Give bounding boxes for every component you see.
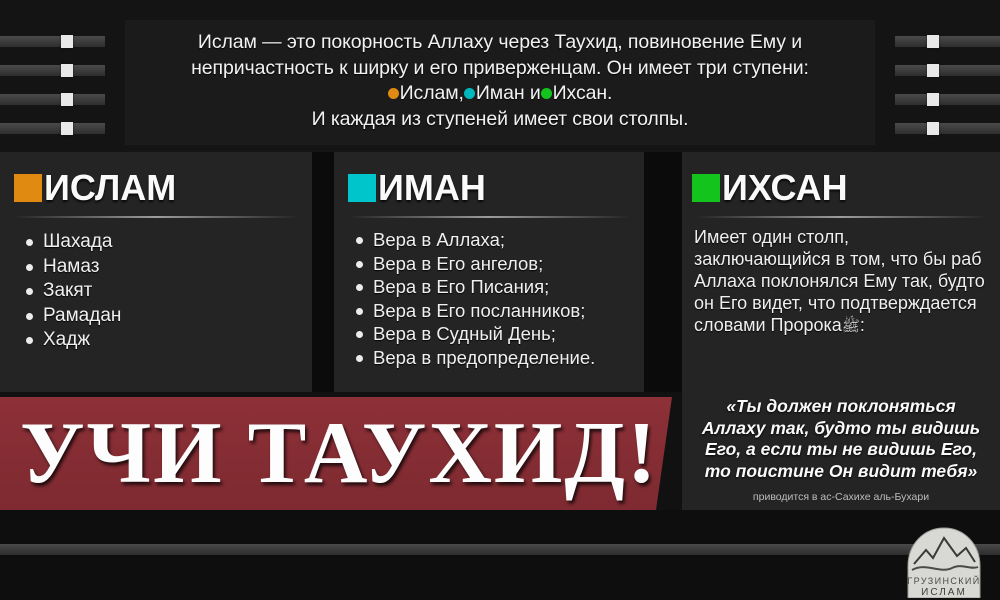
list-item: Шахада — [26, 230, 312, 255]
list-item: Вера в Его посланников; — [356, 299, 644, 323]
column-islam: ИСЛАМ Шахада Намаз Закят Рамадан Хадж — [0, 152, 312, 392]
list-item: Закят — [26, 279, 312, 304]
rail-bar — [0, 65, 105, 76]
iman-pillars-list: Вера в Аллаха; Вера в Его ангелов; Вера … — [334, 218, 644, 369]
rail-square-icon — [927, 93, 939, 106]
rail-square-icon — [61, 122, 73, 135]
intro-ihsan-label: Ихсан. — [553, 82, 613, 104]
list-item: Рамадан — [26, 304, 312, 329]
svg-text:ГРУЗИНСКИЙ: ГРУЗИНСКИЙ — [907, 575, 980, 586]
learn-tawhid-banner: УЧИ ТАУХИД! — [0, 397, 672, 510]
decorative-rail-right — [875, 0, 1000, 152]
hadith-attribution: приводится в ас-Сахихе аль-Бухари — [696, 491, 986, 503]
rail-bar — [0, 123, 105, 134]
rail-square-icon — [927, 35, 939, 48]
intro-line-4: И каждая из ступеней имеет свои столпы. — [125, 107, 875, 133]
list-item: Вера в Его ангелов; — [356, 252, 644, 276]
list-item: Вера в предопределение. — [356, 346, 644, 370]
intro-line-1: Ислам — это покорность Аллаху через Таух… — [125, 30, 875, 56]
rail-bar — [0, 36, 105, 47]
bottom-gray-bar — [0, 544, 1000, 555]
islam-pillars-list: Шахада Намаз Закят Рамадан Хадж — [0, 218, 312, 353]
svg-text:ИСЛАМ: ИСЛАМ — [921, 587, 967, 598]
list-item: Вера в Судный День; — [356, 322, 644, 346]
sallallahu-alayhi-wasallam-icon: ﷺ — [842, 318, 860, 335]
column-iman-title: ИМАН — [378, 170, 486, 206]
rail-bar — [895, 94, 1000, 105]
mountain-circle-logo: ГРУЗИНСКИЙ ИСЛАМ — [900, 524, 988, 598]
column-iman-header: ИМАН — [334, 166, 644, 210]
list-item: Вера в Аллаха; — [356, 228, 644, 252]
intro-islam-label: Ислам, — [400, 82, 464, 104]
rail-square-icon — [927, 64, 939, 77]
intro-line-2: непричастность к ширку и его приверженца… — [125, 56, 875, 82]
list-item: Намаз — [26, 255, 312, 280]
column-ihsan-header: ИХСАН — [682, 166, 1000, 210]
banner-text: УЧИ ТАУХИД! — [0, 410, 658, 498]
ihsan-body-text: Имеет один столп, заключающийся в том, ч… — [682, 218, 1000, 338]
rail-bar — [895, 65, 1000, 76]
iman-swatch-icon — [348, 174, 376, 202]
ihsan-body-main: Имеет один столп, заключающийся в том, ч… — [694, 227, 985, 335]
ihsan-body-suffix: : — [860, 315, 865, 335]
rail-bar — [895, 123, 1000, 134]
pillars-columns: ИСЛАМ Шахада Намаз Закят Рамадан Хадж ИМ… — [0, 152, 1000, 392]
hadith-quote: «Ты должен поклоняться Аллаху так, будто… — [696, 396, 986, 482]
column-ihsan-title: ИХСАН — [722, 170, 848, 206]
islam-swatch-icon — [14, 174, 42, 202]
intro-iman-label: Иман и — [476, 82, 541, 104]
column-iman: ИМАН Вера в Аллаха; Вера в Его ангелов; … — [334, 152, 644, 392]
list-item: Вера в Его Писания; — [356, 275, 644, 299]
column-islam-title: ИСЛАМ — [44, 170, 176, 206]
intro-panel: Ислам — это покорность Аллаху через Таух… — [125, 20, 875, 145]
rail-square-icon — [61, 35, 73, 48]
decorative-rail-left — [0, 0, 125, 152]
iman-dot-icon — [464, 88, 475, 99]
rail-square-icon — [61, 93, 73, 106]
bottom-strip — [0, 510, 1000, 600]
rail-square-icon — [927, 122, 939, 135]
top-strip: Ислам — это покорность Аллаху через Таух… — [0, 0, 1000, 152]
rail-square-icon — [61, 64, 73, 77]
rail-bar — [895, 36, 1000, 47]
rail-bar — [0, 94, 105, 105]
islam-dot-icon — [388, 88, 399, 99]
column-islam-header: ИСЛАМ — [0, 166, 312, 210]
intro-line-3: Ислам,Иман иИхсан. — [125, 81, 875, 107]
ihsan-swatch-icon — [692, 174, 720, 202]
ihsan-dot-icon — [541, 88, 552, 99]
list-item: Хадж — [26, 328, 312, 353]
column-ihsan: ИХСАН Имеет один столп, заключающийся в … — [682, 152, 1000, 392]
